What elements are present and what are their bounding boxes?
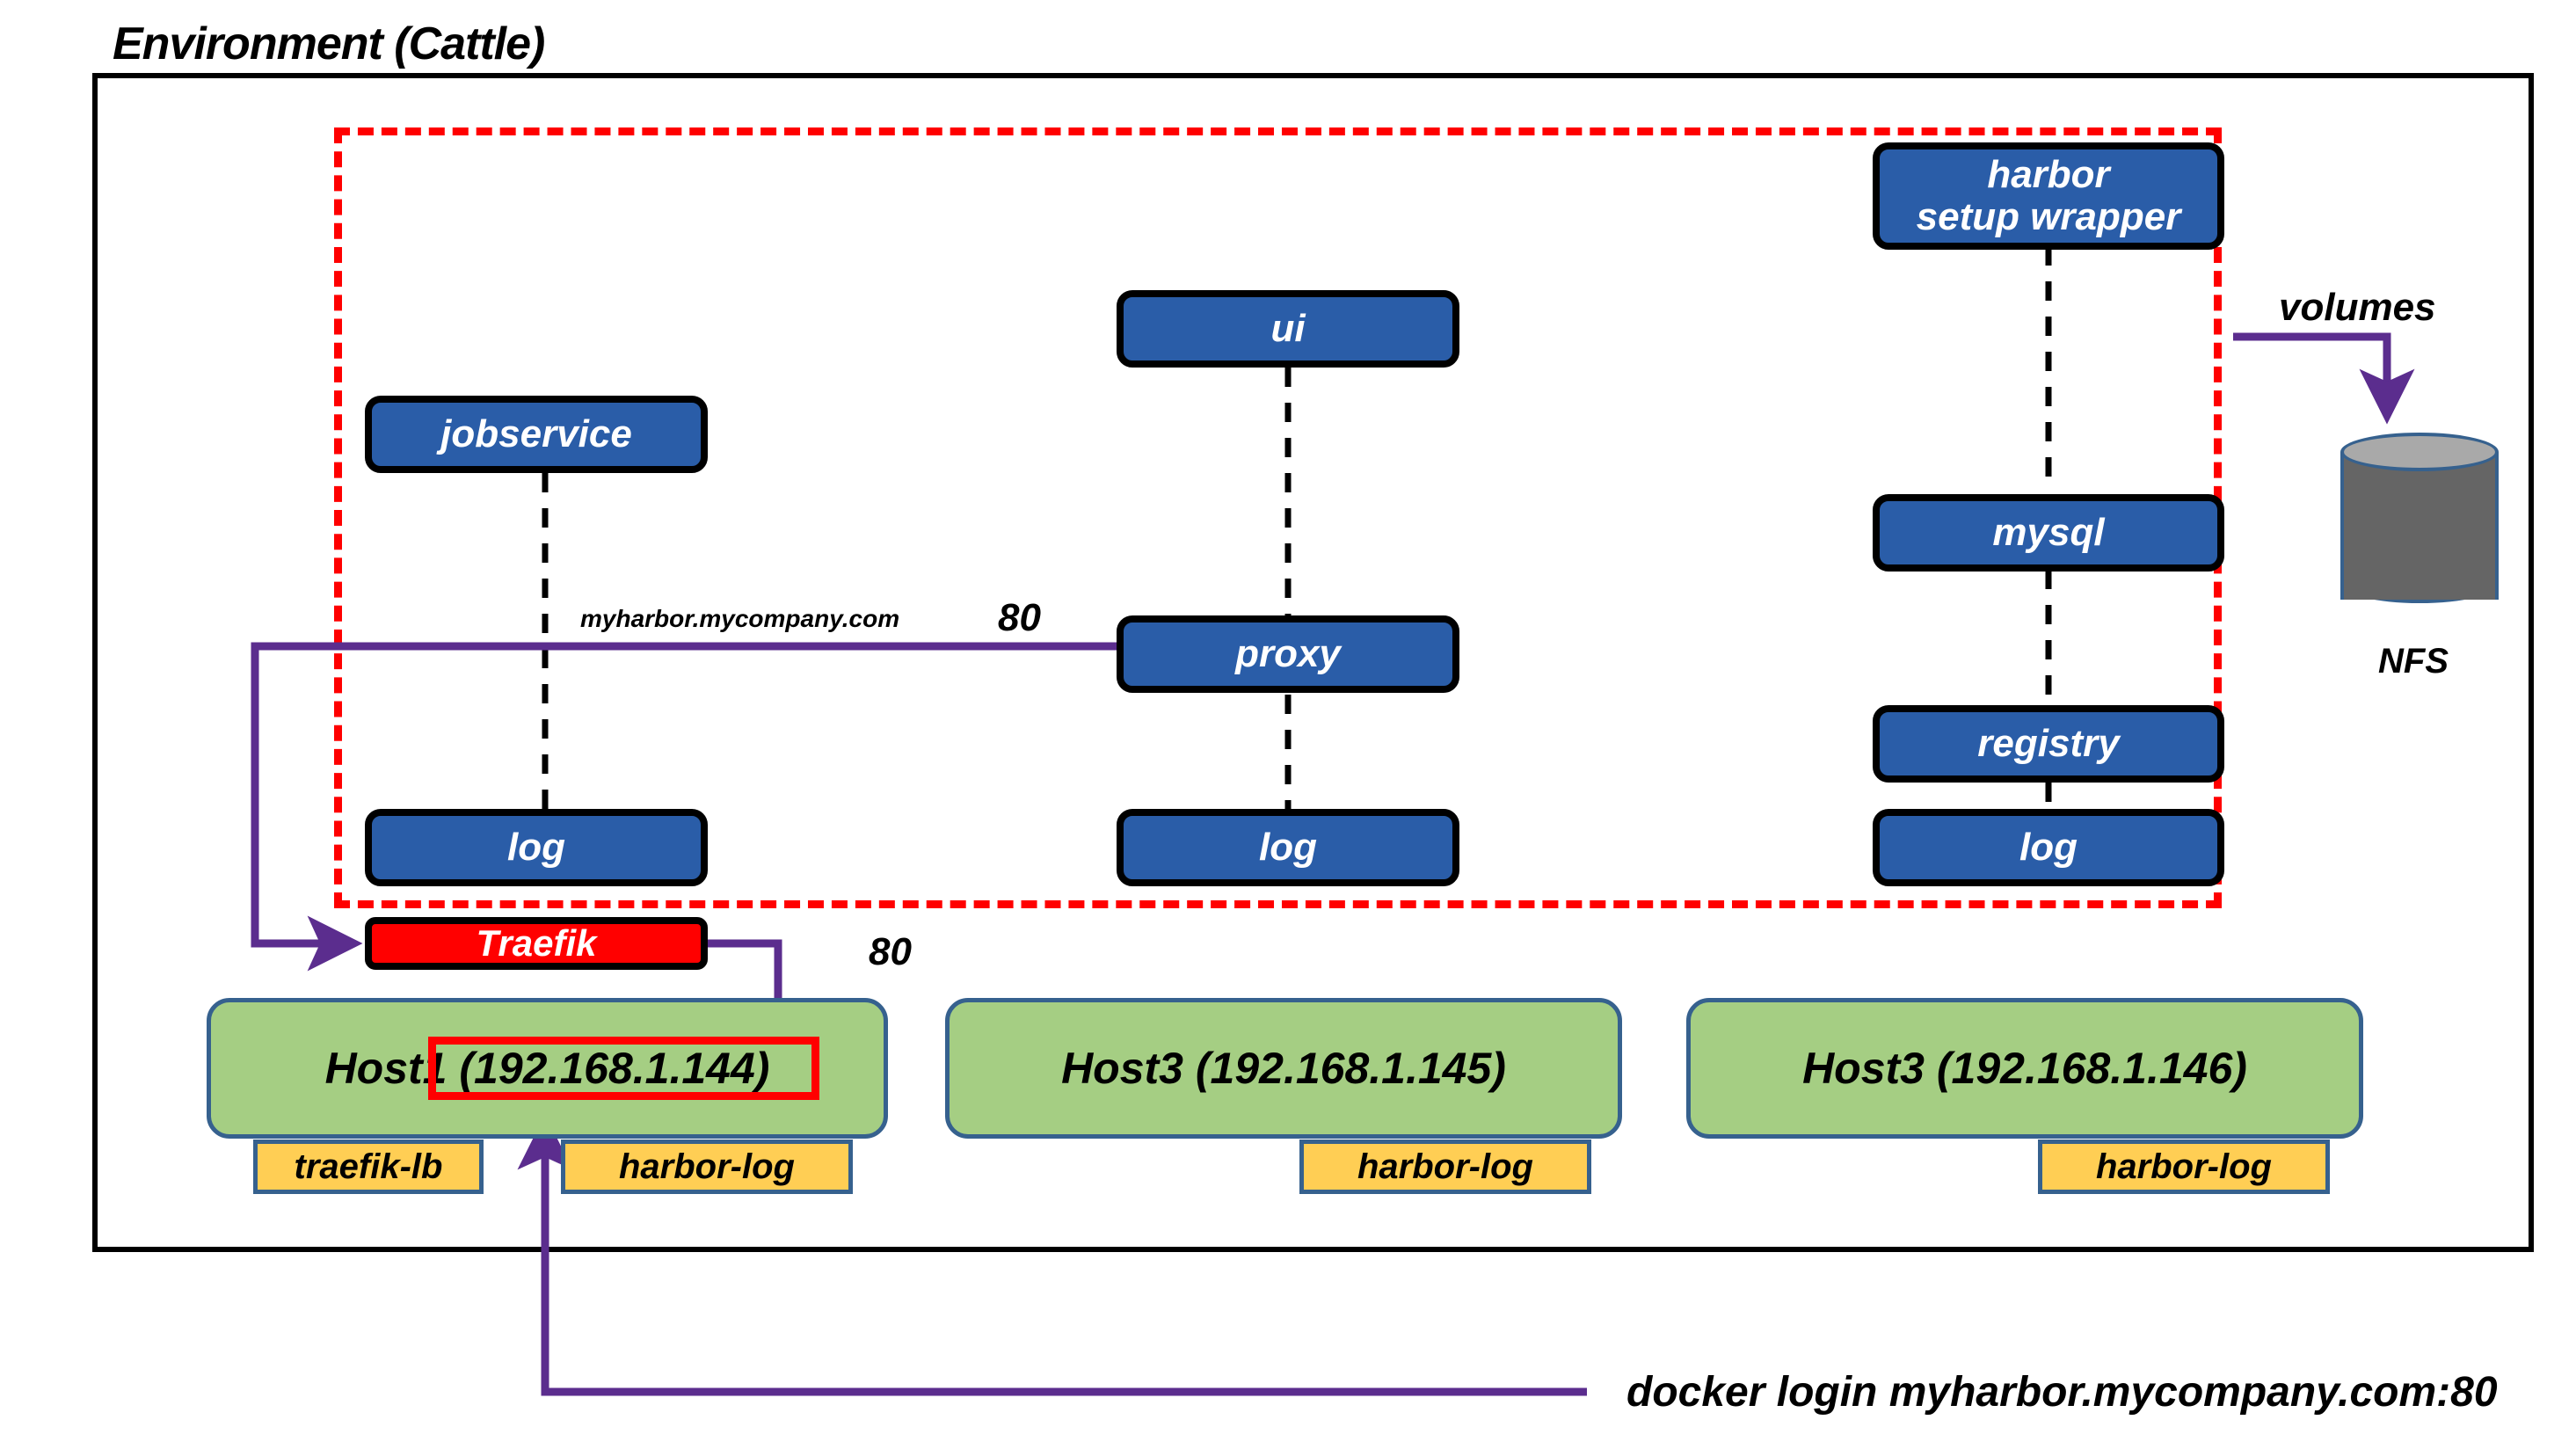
stack-tag-traefik-lb[interactable]: traefik-lb bbox=[253, 1140, 484, 1194]
nfs-label: NFS bbox=[2378, 642, 2449, 681]
diagram-canvas: Environment (Cattle) jobservice bbox=[0, 0, 2576, 1449]
hostname-label: myharbor.mycompany.com bbox=[580, 605, 899, 633]
host-box-1[interactable]: Host1 (192.168.1.144) bbox=[207, 998, 888, 1139]
host-box-2[interactable]: Host3 (192.168.1.145) bbox=[945, 998, 1622, 1139]
nfs-storage-cylinder[interactable] bbox=[2340, 433, 2499, 619]
service-registry[interactable]: registry bbox=[1873, 705, 2224, 783]
port-label-traefik: 80 bbox=[869, 930, 912, 974]
environment-title: Environment (Cattle) bbox=[113, 18, 544, 70]
host-label-3: Host3 (192.168.1.146) bbox=[1802, 1043, 2247, 1094]
host-box-3[interactable]: Host3 (192.168.1.146) bbox=[1686, 998, 2363, 1139]
volumes-label: volumes bbox=[2279, 286, 2436, 330]
traefik-load-balancer[interactable]: Traefik bbox=[365, 917, 708, 970]
service-log-mid[interactable]: log bbox=[1117, 809, 1459, 886]
cylinder-body bbox=[2340, 452, 2499, 600]
service-log-left[interactable]: log bbox=[365, 809, 708, 886]
service-ui[interactable]: ui bbox=[1117, 290, 1459, 368]
docker-login-command: docker login myharbor.mycompany.com:80 bbox=[1626, 1368, 2498, 1416]
service-mysql[interactable]: mysql bbox=[1873, 494, 2224, 572]
service-jobservice[interactable]: jobservice bbox=[365, 396, 708, 473]
stack-tag-harbor-log-host2[interactable]: harbor-log bbox=[1299, 1140, 1591, 1194]
host-label-2: Host3 (192.168.1.145) bbox=[1061, 1043, 1506, 1094]
stack-tag-harbor-log-host1[interactable]: harbor-log bbox=[561, 1140, 853, 1194]
service-log-right[interactable]: log bbox=[1873, 809, 2224, 886]
service-harbor-setup-wrapper[interactable]: harbor setup wrapper bbox=[1873, 142, 2224, 250]
stack-tag-harbor-log-host3[interactable]: harbor-log bbox=[2038, 1140, 2330, 1194]
port-label-proxy: 80 bbox=[998, 596, 1041, 640]
cylinder-top-ellipse bbox=[2340, 433, 2499, 471]
host-label-1: Host1 (192.168.1.144) bbox=[325, 1043, 770, 1094]
service-proxy[interactable]: proxy bbox=[1117, 615, 1459, 693]
